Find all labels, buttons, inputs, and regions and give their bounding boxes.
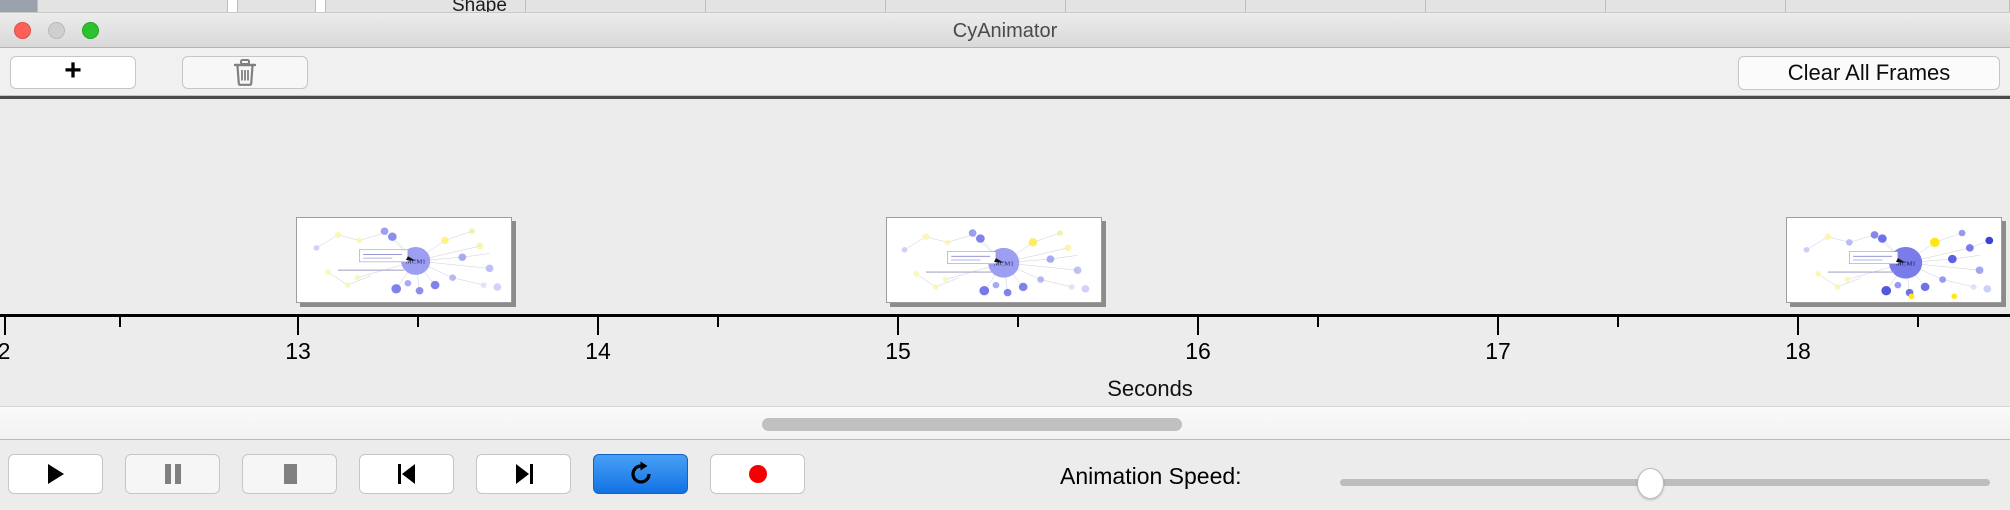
network-preview: MCM1 — [1789, 220, 1999, 300]
axis-tick-label: 18 — [1785, 338, 1811, 365]
network-preview: MCM1 — [299, 220, 509, 300]
loop-button[interactable] — [593, 454, 688, 494]
skip-forward-icon — [512, 462, 536, 486]
axis-tick-label: 16 — [1185, 338, 1211, 365]
timeline-panel[interactable]: MCM1 — [0, 96, 2010, 406]
keyframes-area[interactable]: MCM1 — [0, 99, 2010, 314]
network-preview: MCM1 — [889, 220, 1099, 300]
axis-tick-label: 15 — [885, 338, 911, 365]
add-frame-button[interactable]: + — [10, 56, 136, 89]
trash-icon — [233, 59, 257, 86]
clear-all-frames-label: Clear All Frames — [1788, 60, 1951, 86]
window-title: CyAnimator — [0, 20, 2010, 43]
title-bar: CyAnimator — [0, 13, 2010, 48]
skip-end-button[interactable] — [476, 454, 571, 494]
animation-speed-slider-thumb[interactable] — [1637, 468, 1664, 499]
keyframe-thumbnail[interactable]: MCM1 — [1786, 217, 2002, 303]
axis-tick-label: 17 — [1485, 338, 1511, 365]
playback-bar: Animation Speed: — [0, 441, 2010, 510]
stop-button[interactable] — [242, 454, 337, 494]
animation-speed-slider[interactable] — [1340, 479, 1990, 486]
keyframe-thumbnail[interactable]: MCM1 — [886, 217, 1102, 303]
timeline-scrollbar-thumb[interactable] — [762, 418, 1182, 431]
skip-start-button[interactable] — [359, 454, 454, 494]
toolbar: + Clear All Frames — [0, 48, 2010, 96]
skip-back-icon — [395, 462, 419, 486]
clear-all-frames-button[interactable]: Clear All Frames — [1738, 56, 2000, 90]
axis-title: Seconds — [0, 376, 2010, 402]
play-button[interactable] — [8, 454, 103, 494]
cyanimator-window: Shape CyAnimator + Clear All Frames — [0, 0, 2010, 510]
stop-icon — [280, 462, 300, 486]
play-icon — [45, 462, 67, 486]
record-icon — [747, 463, 769, 485]
axis-tick-label: 14 — [585, 338, 611, 365]
axis-tick-label: 2 — [0, 338, 10, 365]
time-axis: 2 13 14 15 16 17 18 Seconds — [0, 314, 2010, 406]
axis-tick-label: 13 — [285, 338, 311, 365]
delete-frame-button[interactable] — [182, 56, 308, 89]
timeline-scrollbar[interactable] — [0, 406, 2010, 440]
loop-icon — [628, 461, 654, 487]
record-button[interactable] — [710, 454, 805, 494]
keyframe-thumbnail[interactable]: MCM1 — [296, 217, 512, 303]
background-window-strip: Shape — [0, 0, 2010, 13]
axis-line — [0, 314, 2010, 317]
pause-button[interactable] — [125, 454, 220, 494]
pause-icon — [163, 462, 183, 486]
axis-title-text: Seconds — [1107, 376, 1193, 401]
plus-icon: + — [64, 56, 82, 86]
animation-speed-label: Animation Speed: — [1060, 463, 1242, 490]
